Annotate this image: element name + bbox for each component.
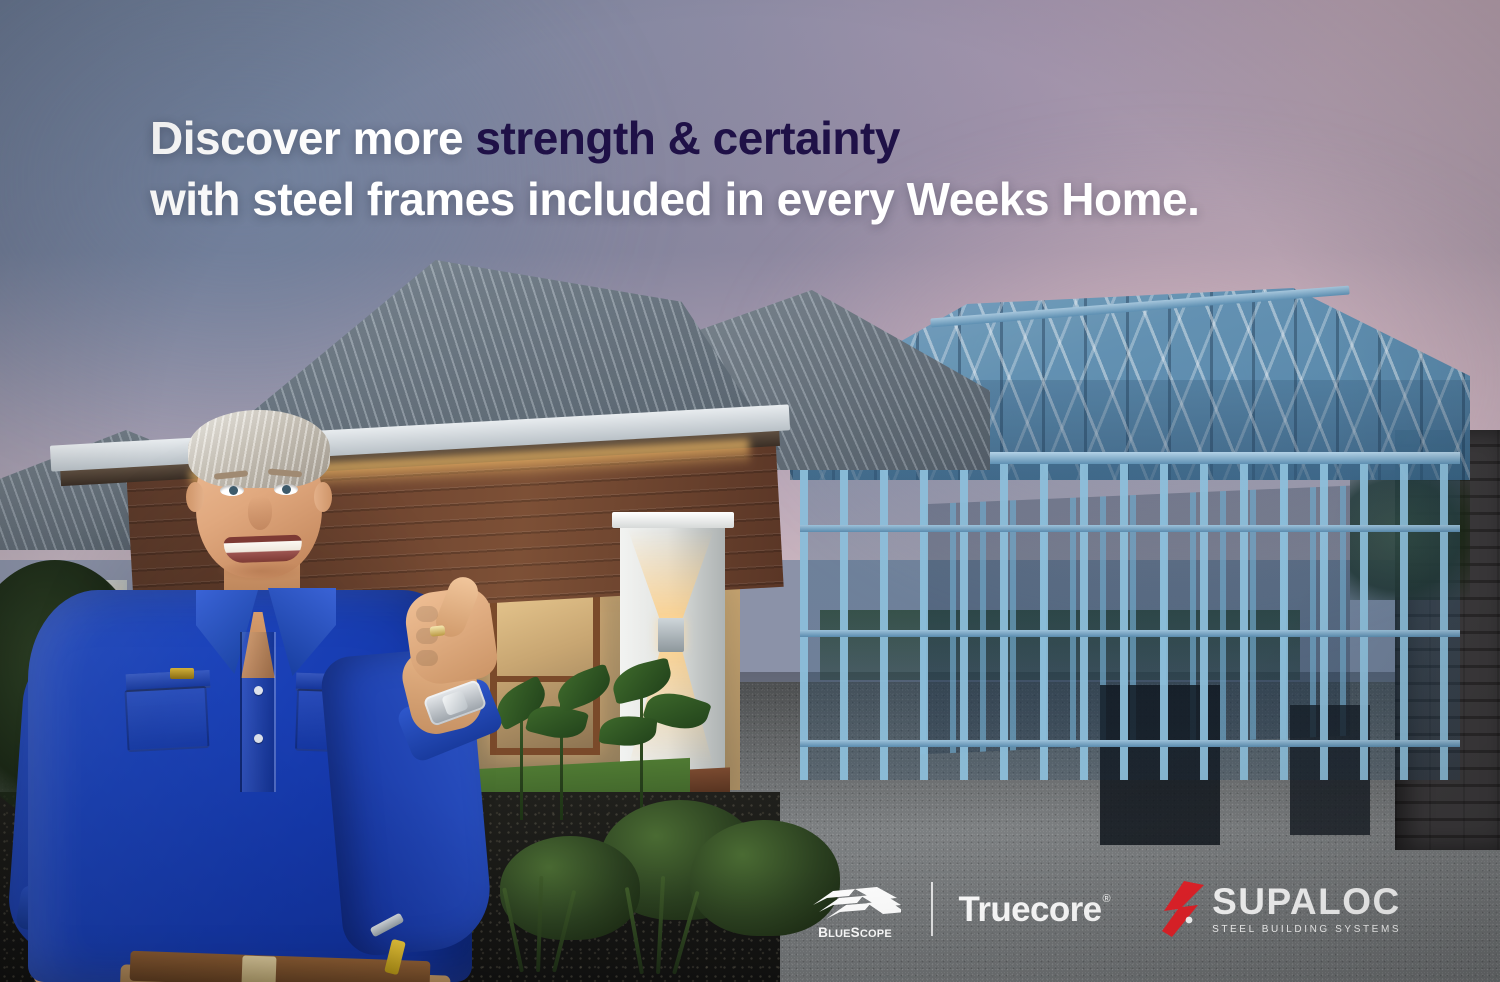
headline-accent-text: strength & certainty [475, 112, 900, 164]
shirt-button-1 [254, 686, 263, 695]
bluescope-logo[interactable]: BLUESCOPE [805, 878, 905, 940]
headline-line-2: with steel frames included in every Week… [150, 169, 1370, 230]
bluescope-wave-mark-icon [809, 885, 901, 923]
ear-right [314, 482, 332, 512]
supaloc-lightning-mark-icon [1162, 881, 1208, 937]
knuckle-3 [416, 650, 438, 666]
shirt-pocket-left [124, 686, 209, 752]
nose [248, 496, 272, 530]
supaloc-wordmark: SUPALOC [1212, 883, 1401, 920]
knuckle-1 [416, 606, 438, 622]
partner-logo-bar: BLUESCOPE Truecore ® SUPALOC STEEL BUILD… [805, 878, 1401, 940]
shirt-placket [240, 632, 276, 792]
pupil-right [282, 485, 291, 494]
bluescope-wordmark: BLUESCOPE [818, 926, 892, 940]
pillar-cap [612, 512, 734, 528]
headline-plain-text: Discover more [150, 112, 475, 164]
pupil-left [229, 486, 238, 495]
shrub-2 [500, 836, 640, 940]
page-title: Discover more strength & certainty with … [150, 108, 1370, 230]
supaloc-tagline: STEEL BUILDING SYSTEMS [1212, 924, 1401, 935]
headline-line-1: Discover more strength & certainty [150, 108, 1370, 169]
truecore-logo[interactable]: Truecore ® [959, 892, 1111, 927]
presenter [10, 400, 510, 982]
ear-left [186, 482, 204, 512]
wedding-ring-right [430, 625, 446, 637]
shirt-button-2 [254, 734, 263, 743]
truecore-wordmark: Truecore [959, 892, 1102, 927]
supaloc-logo[interactable]: SUPALOC STEEL BUILDING SYSTEMS [1162, 881, 1401, 937]
wall-light-main [658, 618, 684, 652]
banner-root: Discover more strength & certainty with … [0, 0, 1500, 982]
presenter-hair [188, 410, 330, 488]
plant-stem-3 [640, 680, 643, 820]
supaloc-text-block: SUPALOC STEEL BUILDING SYSTEMS [1212, 883, 1401, 935]
shirt-brand-tab [170, 668, 194, 679]
registered-trademark-icon: ® [1103, 894, 1111, 905]
belt-buckle [241, 955, 276, 982]
logo-divider [931, 882, 933, 936]
chin-shadow [216, 560, 306, 582]
